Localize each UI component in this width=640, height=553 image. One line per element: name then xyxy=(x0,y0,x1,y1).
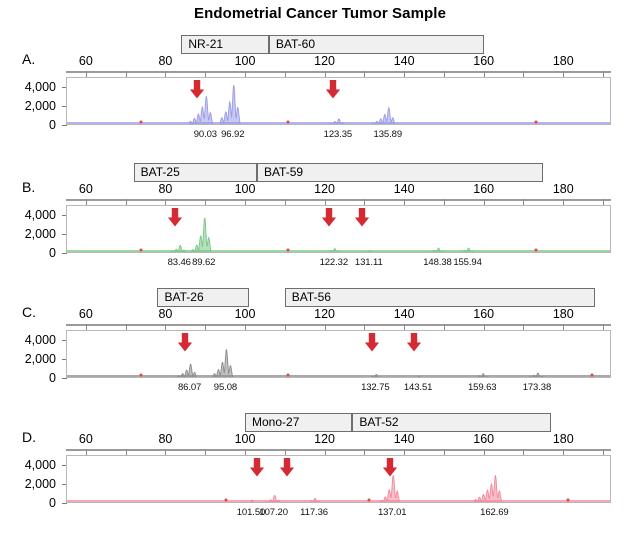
x-axis-tick-label: 140 xyxy=(394,182,415,196)
peak-size-label: 107.20 xyxy=(259,507,287,518)
marker-bar: NR-21BAT-60 xyxy=(0,35,640,54)
trace-baseline xyxy=(67,250,610,252)
trace-baseline xyxy=(67,375,610,377)
size-standard-dot xyxy=(139,249,142,252)
y-axis-tick xyxy=(62,253,67,254)
trace-curve xyxy=(67,456,610,502)
size-standard-dot xyxy=(368,499,371,502)
instability-arrow-icon xyxy=(365,333,380,352)
size-standard-dot xyxy=(139,121,142,124)
size-standard-dot xyxy=(225,499,228,502)
peak-size-label: 89.62 xyxy=(192,257,215,268)
marker-label-nr-21: NR-21 xyxy=(181,35,269,54)
y-axis-label: 0 xyxy=(0,371,56,385)
x-axis: 6080100120140160180 xyxy=(0,308,640,330)
x-axis-tick-label: 120 xyxy=(314,307,335,321)
panel-c: C.BAT-26BAT-5660801001201401601804,0002,… xyxy=(0,288,640,400)
y-axis-label: 0 xyxy=(0,496,56,510)
size-standard-dot xyxy=(535,121,538,124)
y-axis-label: 4,000 xyxy=(0,333,56,347)
instability-arrow-icon xyxy=(168,208,183,227)
peak-size-label: 155.94 xyxy=(453,257,481,268)
size-standard-dot xyxy=(286,374,289,377)
x-axis: 6080100120140160180 xyxy=(0,433,640,455)
size-standard-dot xyxy=(139,374,142,377)
peak-size-label: 135.89 xyxy=(374,129,402,140)
figure-root: Endometrial Cancer Tumor Sample A.NR-21B… xyxy=(0,0,640,553)
x-axis: 6080100120140160180 xyxy=(0,183,640,205)
x-axis-tick-label: 140 xyxy=(394,307,415,321)
x-axis-tick-label: 80 xyxy=(158,182,172,196)
marker-label-bat-60: BAT-60 xyxy=(269,35,484,54)
trace-curve xyxy=(67,206,610,252)
x-axis-line xyxy=(66,324,611,326)
electropherogram-plot xyxy=(66,330,611,378)
instability-arrow-icon xyxy=(355,208,370,227)
x-axis-tick-label: 160 xyxy=(473,432,494,446)
x-axis-tick-label: 160 xyxy=(473,182,494,196)
marker-label-bat-59: BAT-59 xyxy=(257,163,543,182)
marker-label-bat-52: BAT-52 xyxy=(352,413,551,432)
peak-size-label: 95.08 xyxy=(214,382,237,393)
peak-size-label: 117.36 xyxy=(300,507,328,518)
trace-area xyxy=(67,331,610,377)
x-axis-tick-label: 100 xyxy=(235,432,256,446)
instability-arrow-icon xyxy=(383,458,398,477)
instability-arrow-icon xyxy=(190,80,205,99)
x-axis-tick-label: 180 xyxy=(553,432,574,446)
x-axis-tick-label: 80 xyxy=(158,432,172,446)
peak-size-label: 173.38 xyxy=(523,382,551,393)
panel-a: A.NR-21BAT-6060801001201401601804,0002,0… xyxy=(0,35,640,147)
marker-label-mono-27: Mono-27 xyxy=(245,413,352,432)
peak-size-label: 132.75 xyxy=(361,382,389,393)
x-axis: 6080100120140160180 xyxy=(0,55,640,77)
peak-size-label: 159.63 xyxy=(468,382,496,393)
trace-area xyxy=(67,206,610,252)
trace-baseline xyxy=(67,500,610,502)
marker-label-bat-26: BAT-26 xyxy=(157,288,248,307)
x-axis-tick-label: 60 xyxy=(79,307,93,321)
instability-arrow-icon xyxy=(178,333,193,352)
peak-size-label: 162.69 xyxy=(480,507,508,518)
x-axis-line xyxy=(66,199,611,201)
y-axis-label: 0 xyxy=(0,118,56,132)
x-axis-tick-label: 60 xyxy=(79,182,93,196)
instability-arrow-icon xyxy=(249,458,264,477)
marker-bar: Mono-27BAT-52 xyxy=(0,413,640,432)
x-axis-tick-label: 60 xyxy=(79,54,93,68)
x-axis-tick-label: 160 xyxy=(473,54,494,68)
marker-label-bat-25: BAT-25 xyxy=(134,163,257,182)
peak-size-label: 90.03 xyxy=(194,129,217,140)
x-axis-line xyxy=(66,71,611,73)
size-standard-dot xyxy=(591,374,594,377)
peak-size-label: 96.92 xyxy=(221,129,244,140)
y-axis-tick xyxy=(62,378,67,379)
size-standard-dot xyxy=(567,499,570,502)
x-axis-tick-label: 60 xyxy=(79,432,93,446)
x-axis-tick-label: 80 xyxy=(158,307,172,321)
peak-size-label: 148.38 xyxy=(423,257,451,268)
peak-size-label: 143.51 xyxy=(404,382,432,393)
size-standard-dot xyxy=(286,121,289,124)
y-axis-label: 2,000 xyxy=(0,227,56,241)
size-standard-dot xyxy=(286,249,289,252)
x-axis-tick-label: 180 xyxy=(553,307,574,321)
x-axis-tick-label: 180 xyxy=(553,182,574,196)
peak-size-label: 86.07 xyxy=(178,382,201,393)
y-axis-label: 2,000 xyxy=(0,352,56,366)
marker-bar: BAT-25BAT-59 xyxy=(0,163,640,182)
trace-baseline xyxy=(67,122,610,124)
x-axis-tick-label: 120 xyxy=(314,182,335,196)
trace-area xyxy=(67,456,610,502)
marker-label-bat-56: BAT-56 xyxy=(285,288,595,307)
peak-size-label: 123.35 xyxy=(324,129,352,140)
x-axis-tick-label: 160 xyxy=(473,307,494,321)
electropherogram-plot xyxy=(66,455,611,503)
size-standard-dot xyxy=(535,249,538,252)
x-axis-tick-label: 100 xyxy=(235,307,256,321)
x-axis-tick-label: 180 xyxy=(553,54,574,68)
marker-bar: BAT-26BAT-56 xyxy=(0,288,640,307)
y-axis-label: 4,000 xyxy=(0,208,56,222)
instability-arrow-icon xyxy=(407,333,422,352)
instability-arrow-icon xyxy=(325,80,340,99)
peak-size-label: 131.11 xyxy=(355,257,383,268)
instability-arrow-icon xyxy=(321,208,336,227)
x-axis-tick-label: 140 xyxy=(394,432,415,446)
x-axis-tick-label: 140 xyxy=(394,54,415,68)
peak-size-label: 83.46 xyxy=(168,257,191,268)
y-axis-label: 2,000 xyxy=(0,99,56,113)
y-axis-tick xyxy=(62,125,67,126)
x-axis-tick-label: 100 xyxy=(235,182,256,196)
y-axis-label: 2,000 xyxy=(0,477,56,491)
y-axis-label: 4,000 xyxy=(0,80,56,94)
x-axis-line xyxy=(66,449,611,451)
y-axis-tick xyxy=(62,503,67,504)
panel-d: D.Mono-27BAT-5260801001201401601804,0002… xyxy=(0,413,640,525)
trace-curve xyxy=(67,331,610,377)
y-axis-label: 0 xyxy=(0,246,56,260)
electropherogram-plot xyxy=(66,205,611,253)
x-axis-tick-label: 80 xyxy=(158,54,172,68)
y-axis-label: 4,000 xyxy=(0,458,56,472)
x-axis-tick-label: 120 xyxy=(314,54,335,68)
panel-b: B.BAT-25BAT-5960801001201401601804,0002,… xyxy=(0,163,640,275)
figure-title: Endometrial Cancer Tumor Sample xyxy=(0,5,640,22)
x-axis-tick-label: 120 xyxy=(314,432,335,446)
instability-arrow-icon xyxy=(279,458,294,477)
x-axis-tick-label: 100 xyxy=(235,54,256,68)
peak-size-label: 137.01 xyxy=(378,507,406,518)
peak-size-label: 122.32 xyxy=(320,257,348,268)
